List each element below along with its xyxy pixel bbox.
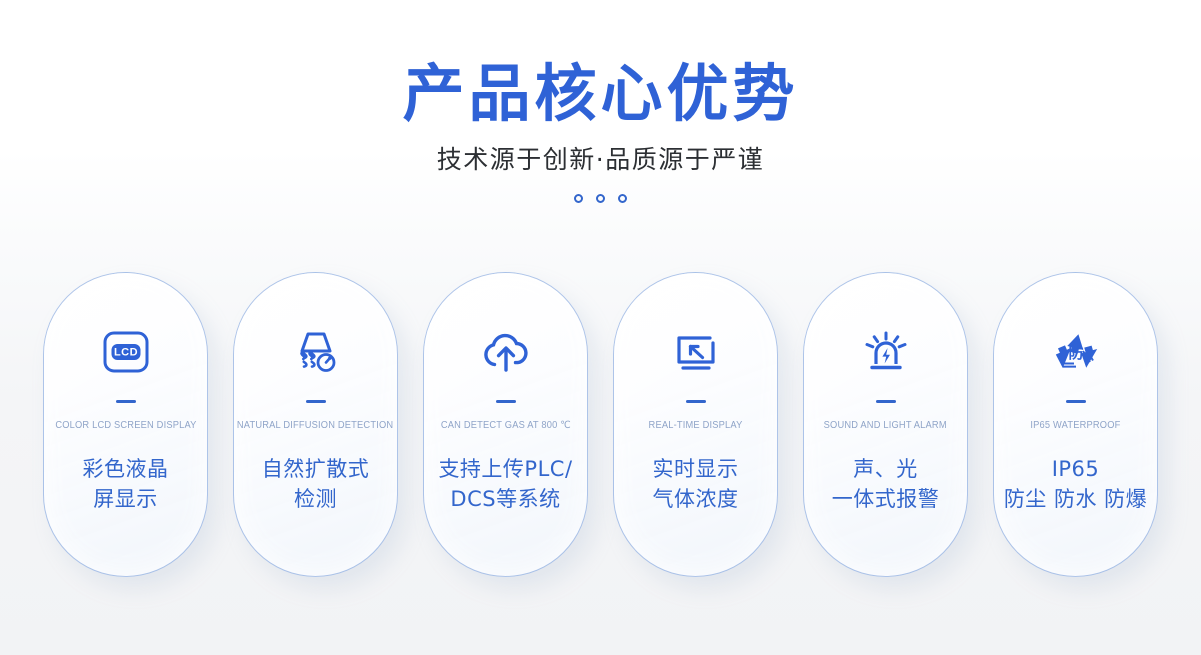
card-chinese-label: 实时显示 气体浓度	[647, 454, 745, 514]
card-english-label: IP65 WATERPROOF	[1030, 420, 1120, 432]
svg-text:防: 防	[1068, 344, 1083, 362]
card-divider	[496, 400, 516, 403]
cloud-upload-icon	[478, 326, 534, 378]
card-chinese-line-1: 实时显示	[653, 454, 739, 484]
card-chinese-label: 支持上传PLC/ DCS等系统	[432, 454, 578, 514]
card-english-label: NATURAL DIFFUSION DETECTION	[237, 420, 393, 432]
advantage-card-list: LCD COLOR LCD SCREEN DISPLAY 彩色液晶 屏显示	[0, 272, 1201, 577]
card-chinese-line-2: 屏显示	[83, 484, 169, 514]
card-divider	[686, 400, 706, 403]
advantage-card-sound-light-alarm[interactable]: SOUND AND LIGHT ALARM 声、光 一体式报警	[803, 272, 968, 577]
card-english-label: SOUND AND LIGHT ALARM	[824, 420, 947, 432]
card-divider	[306, 400, 326, 403]
card-chinese-line-2: 气体浓度	[653, 484, 739, 514]
card-divider	[1066, 400, 1086, 403]
card-chinese-line-2: 防尘 防水 防爆	[1004, 484, 1147, 514]
advantage-card-ip65-waterproof[interactable]: 防 IP65 WATERPROOF IP65 防尘 防水 防爆	[993, 272, 1158, 577]
card-chinese-line-2: 一体式报警	[832, 484, 940, 514]
page-title: 产品核心优势	[0, 58, 1201, 130]
card-divider	[876, 400, 896, 403]
card-chinese-label: IP65 防尘 防水 防爆	[998, 454, 1153, 514]
card-chinese-line-1: 支持上传PLC/	[438, 454, 572, 484]
page-subtitle: 技术源于创新·品质源于严谨	[0, 144, 1201, 176]
card-chinese-label: 声、光 一体式报警	[826, 454, 946, 514]
card-chinese-line-1: IP65	[1004, 454, 1147, 484]
card-english-label: REAL-TIME DISPLAY	[649, 420, 743, 432]
card-chinese-line-2: 检测	[262, 484, 370, 514]
monitor-display-icon	[668, 326, 724, 378]
dot-icon	[574, 194, 583, 203]
alarm-siren-icon	[858, 326, 914, 378]
card-english-label: CAN DETECT GAS AT 800 ℃	[441, 420, 571, 432]
card-chinese-line-2: DCS等系统	[438, 484, 572, 514]
lcd-screen-icon: LCD	[98, 326, 154, 378]
page-header: 产品核心优势 技术源于创新·品质源于严谨	[0, 0, 1201, 203]
advantage-card-cloud-upload[interactable]: CAN DETECT GAS AT 800 ℃ 支持上传PLC/ DCS等系统	[423, 272, 588, 577]
card-chinese-line-1: 声、光	[832, 454, 940, 484]
advantage-card-color-lcd[interactable]: LCD COLOR LCD SCREEN DISPLAY 彩色液晶 屏显示	[43, 272, 208, 577]
advantage-card-natural-diffusion[interactable]: NATURAL DIFFUSION DETECTION 自然扩散式 检测	[233, 272, 398, 577]
card-divider	[116, 400, 136, 403]
dot-separator	[0, 194, 1201, 203]
card-chinese-label: 自然扩散式 检测	[256, 454, 376, 514]
card-english-label: COLOR LCD SCREEN DISPLAY	[55, 420, 196, 432]
product-advantages-page: 产品核心优势 技术源于创新·品质源于严谨 LCD COLOR LCD SCREE…	[0, 0, 1201, 655]
advantage-card-realtime-display[interactable]: REAL-TIME DISPLAY 实时显示 气体浓度	[613, 272, 778, 577]
card-chinese-label: 彩色液晶 屏显示	[77, 454, 175, 514]
card-chinese-line-1: 自然扩散式	[262, 454, 370, 484]
waterproof-recycle-icon: 防	[1048, 326, 1104, 378]
card-chinese-line-1: 彩色液晶	[83, 454, 169, 484]
dot-icon	[596, 194, 605, 203]
natural-diffusion-icon	[288, 326, 344, 378]
svg-text:LCD: LCD	[113, 347, 137, 359]
dot-icon	[618, 194, 627, 203]
